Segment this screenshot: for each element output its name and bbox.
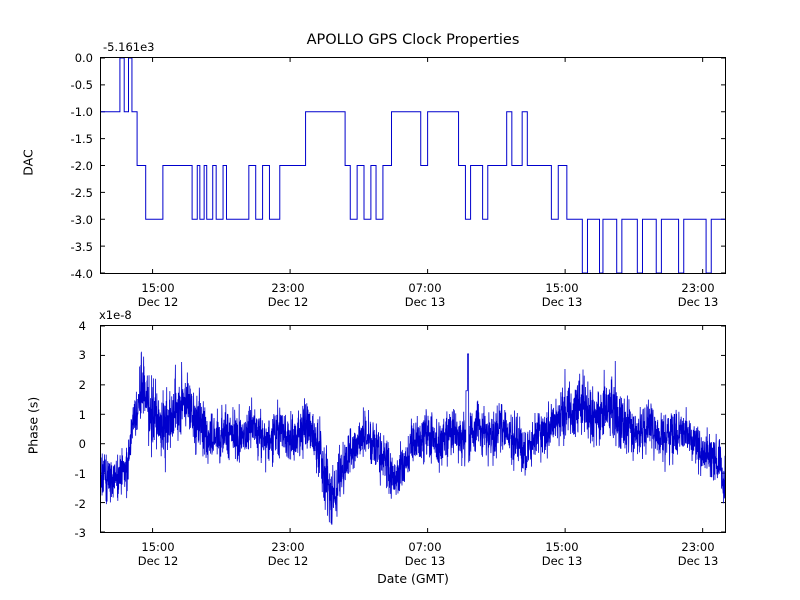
dac-plot-area (100, 57, 726, 274)
phase-trace-svg (101, 326, 725, 532)
phase-plot-area (100, 325, 726, 533)
dac-xtick-3: 15:00 Dec 13 (522, 281, 602, 309)
dac-step-trace (101, 58, 725, 273)
dac-y-offset-label: -5.161e3 (103, 40, 154, 54)
dac-ytick-5: -2.5 (48, 186, 93, 200)
dac-ytick-6: -3.0 (48, 213, 93, 227)
phase-ytick-6: -2 (48, 497, 86, 511)
figure: APOLLO GPS Clock Properties -5.161e3 DAC… (0, 0, 800, 600)
dac-xtick-4: 23:00 Dec 13 (658, 281, 738, 309)
phase-y-offset-label: x1e-8 (99, 308, 132, 322)
phase-ytick-7: -3 (48, 526, 86, 540)
phase-y-axis-label: Phase (s) (26, 396, 41, 456)
dac-xtick-2: 07:00 Dec 13 (385, 281, 465, 309)
dac-ytick-8: -4.0 (48, 267, 93, 281)
dac-trace-svg (101, 58, 725, 273)
phase-xtick-2: 07:00 Dec 13 (385, 540, 465, 568)
dac-xtick-1: 23:00 Dec 12 (248, 281, 328, 309)
phase-ytick-1: 3 (48, 348, 86, 362)
phase-xtick-1: 23:00 Dec 12 (248, 540, 328, 568)
phase-xtick-3: 15:00 Dec 13 (522, 540, 602, 568)
phase-ytick-5: -1 (48, 467, 86, 481)
x-axis-label: Date (GMT) (100, 571, 726, 586)
dac-tick-marks (101, 58, 725, 273)
phase-noise-trace (101, 352, 725, 524)
phase-ytick-0: 4 (48, 319, 86, 333)
dac-ytick-1: -0.5 (48, 78, 93, 92)
dac-ytick-3: -1.5 (48, 132, 93, 146)
dac-ytick-4: -2.0 (48, 159, 93, 173)
dac-ytick-2: -1.0 (48, 105, 93, 119)
dac-xtick-0: 15:00 Dec 12 (118, 281, 198, 309)
phase-ytick-3: 1 (48, 408, 86, 422)
dac-ytick-7: -3.5 (48, 240, 93, 254)
dac-y-axis-label: DAC (21, 133, 36, 193)
phase-ytick-2: 2 (48, 378, 86, 392)
chart-title: APOLLO GPS Clock Properties (100, 31, 726, 49)
dac-ytick-0: 0.0 (48, 51, 93, 65)
phase-ytick-4: 0 (48, 437, 86, 451)
phase-xtick-4: 23:00 Dec 13 (658, 540, 738, 568)
phase-xtick-0: 15:00 Dec 12 (118, 540, 198, 568)
